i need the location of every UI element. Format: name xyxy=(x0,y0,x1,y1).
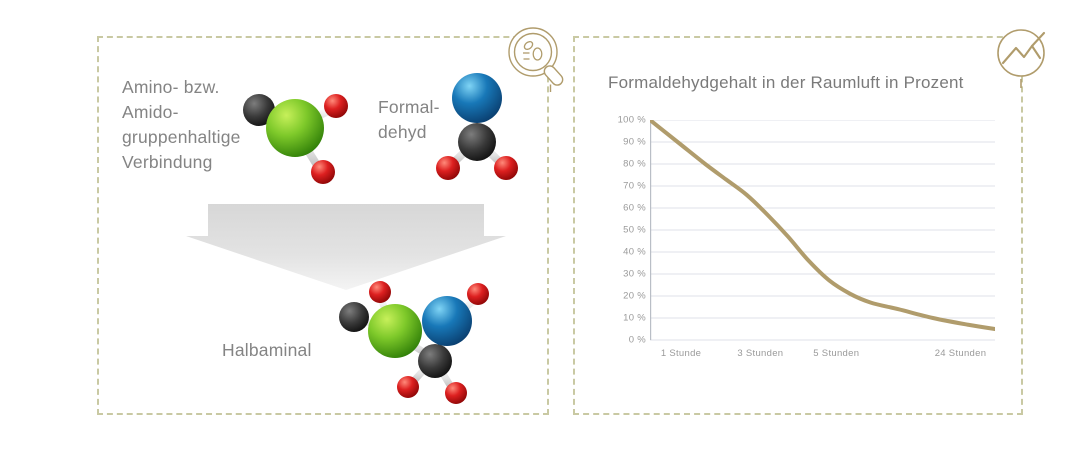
y-axis-tick: 30 % xyxy=(623,269,646,280)
chart-plot xyxy=(650,120,995,340)
chart-area: 100 %90 %80 %70 %60 %50 %40 %30 %20 %10 … xyxy=(600,120,1000,380)
chart-title: Formaldehydgehalt in der Raumluft in Pro… xyxy=(608,73,964,93)
y-axis-tick: 70 % xyxy=(623,181,646,192)
y-axis-tick: 100 % xyxy=(618,115,646,126)
x-axis-tick: 5 Stunden xyxy=(813,348,859,359)
y-axis-tick: 0 % xyxy=(629,335,646,346)
y-axis-tick: 10 % xyxy=(623,313,646,324)
formaldehyde-molecule xyxy=(432,68,522,186)
data-series-line xyxy=(650,120,995,329)
x-axis-tick: 24 Stunden xyxy=(935,348,987,359)
hemiaminal-molecule xyxy=(325,272,510,407)
x-axis-tick: 3 Stunden xyxy=(737,348,783,359)
y-axis-tick: 20 % xyxy=(623,291,646,302)
y-axis-tick: 80 % xyxy=(623,159,646,170)
amine-molecule xyxy=(232,78,362,188)
x-axis-tick: 1 Stunde xyxy=(661,348,701,359)
infographic-canvas: Amino- bzw. Amido- gruppenhaltige Verbin… xyxy=(0,0,1080,462)
y-axis-tick: 50 % xyxy=(623,225,646,236)
trend-chart-circle-icon xyxy=(989,22,1061,94)
x-axis-labels: 1 Stunde3 Stunden5 Stunden24 Stunden xyxy=(650,348,995,368)
y-axis-tick: 60 % xyxy=(623,203,646,214)
y-axis-tick: 40 % xyxy=(623,247,646,258)
y-axis-tick: 90 % xyxy=(623,137,646,148)
y-axis-labels: 100 %90 %80 %70 %60 %50 %40 %30 %20 %10 … xyxy=(600,120,646,340)
chart-svg xyxy=(650,120,995,346)
